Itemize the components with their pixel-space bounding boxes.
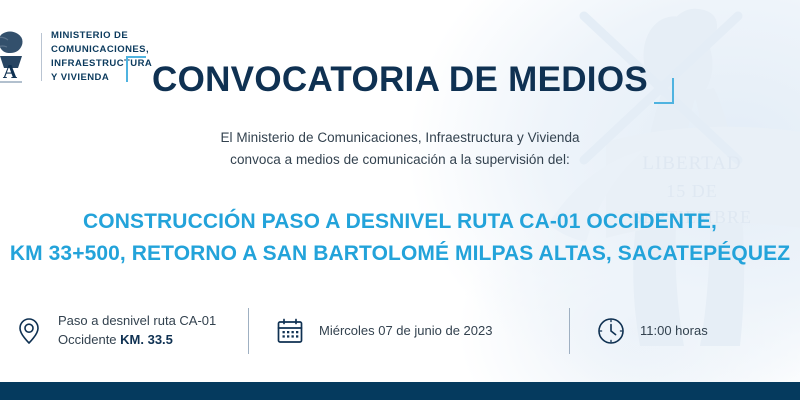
location-pin-icon bbox=[14, 316, 44, 346]
scroll-line-2: 15 DE bbox=[592, 178, 792, 204]
subtitle: El Ministerio de Comunicaciones, Infraes… bbox=[0, 127, 800, 171]
ministry-name-line-2: COMUNICACIONES, bbox=[51, 43, 152, 57]
event-location: Paso a desnivel ruta CA-01 Occidente KM.… bbox=[0, 302, 248, 360]
project-headline-line-1: CONSTRUCCIÓN PASO A DESNIVEL RUTA CA-01 … bbox=[0, 206, 800, 238]
bracket-top-left-icon bbox=[126, 56, 146, 82]
poster-canvas: LIBERTAD 15 DE SEPTIEMBRE A MINISTERIO D… bbox=[0, 0, 800, 400]
location-line-2: Occidente KM. 33.5 bbox=[58, 331, 216, 350]
event-details-strip: Paso a desnivel ruta CA-01 Occidente KM.… bbox=[0, 302, 800, 360]
event-date-text: Miércoles 07 de junio de 2023 bbox=[319, 322, 492, 341]
event-location-text: Paso a desnivel ruta CA-01 Occidente KM.… bbox=[58, 312, 216, 350]
location-km: KM. 33.5 bbox=[120, 332, 173, 347]
project-headline-line-2: KM 33+500, RETORNO A SAN BARTOLOMÉ MILPA… bbox=[0, 238, 800, 270]
event-time: 11:00 horas bbox=[570, 302, 800, 360]
location-line-2-plain: Occidente bbox=[58, 332, 120, 347]
clock-icon bbox=[596, 316, 626, 346]
title-block: CONVOCATORIA DE MEDIOS bbox=[0, 62, 800, 99]
bracket-bottom-right-icon bbox=[654, 78, 674, 104]
calendar-icon bbox=[275, 316, 305, 346]
project-headline: CONSTRUCCIÓN PASO A DESNIVEL RUTA CA-01 … bbox=[0, 206, 800, 269]
event-time-text: 11:00 horas bbox=[640, 322, 708, 341]
page-title: CONVOCATORIA DE MEDIOS bbox=[152, 62, 648, 99]
ministry-name-line-1: MINISTERIO DE bbox=[51, 29, 152, 43]
subtitle-line-2: convoca a medios de comunicación a la su… bbox=[0, 149, 800, 171]
subtitle-line-1: El Ministerio de Comunicaciones, Infraes… bbox=[0, 127, 800, 149]
location-line-1: Paso a desnivel ruta CA-01 bbox=[58, 312, 216, 331]
bottom-accent-bar bbox=[0, 382, 800, 400]
event-date: Miércoles 07 de junio de 2023 bbox=[249, 302, 569, 360]
